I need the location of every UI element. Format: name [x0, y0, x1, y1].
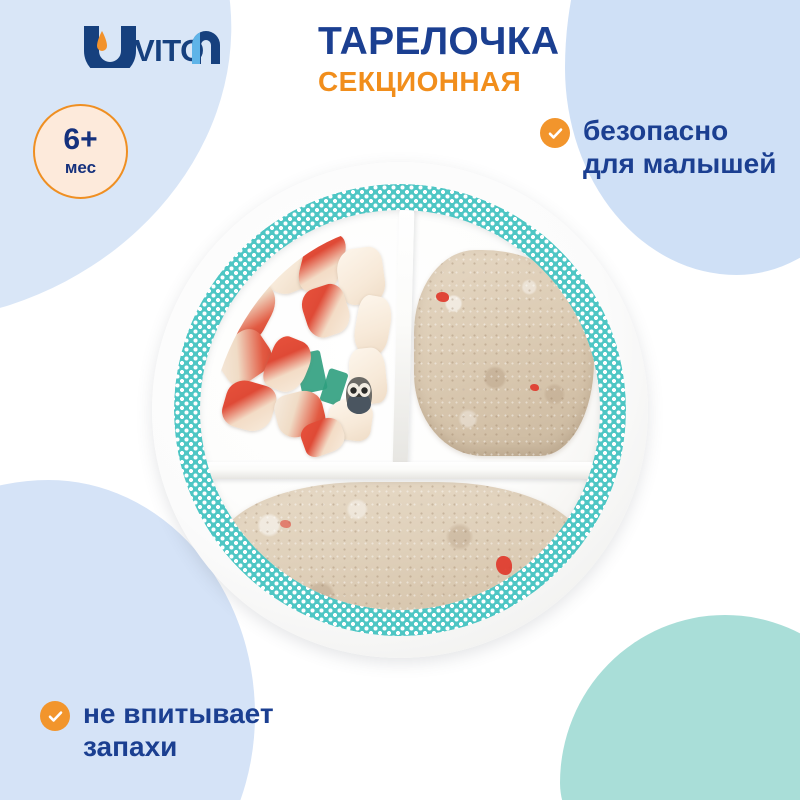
product-photo-sectioned-plate	[152, 162, 648, 658]
page-title: ТАРЕЛОЧКА	[318, 22, 559, 63]
age-badge: 6+ мес	[33, 104, 128, 199]
section-porridge-top-right	[414, 250, 594, 456]
age-badge-unit: мес	[65, 158, 96, 178]
owl-pick-icon	[344, 376, 374, 418]
feature-odor-label: не впитывает запахи	[83, 698, 274, 764]
porridge-texture	[414, 250, 594, 456]
plate-inner-bowl	[200, 210, 600, 610]
check-circle-icon	[540, 118, 570, 148]
headline-block: ТАРЕЛОЧКА СЕКЦИОННАЯ	[318, 22, 559, 97]
brand-logo: VITO	[80, 24, 220, 68]
product-marketing-banner: VITO ТАРЕЛОЧКА СЕКЦИОННАЯ 6+ мес безопас…	[0, 0, 800, 800]
check-circle-icon	[40, 701, 70, 731]
page-subtitle: СЕКЦИОННАЯ	[318, 67, 559, 98]
plate-outer-rim	[152, 162, 648, 658]
porridge-texture	[218, 482, 584, 610]
plate-divider-horizontal	[202, 462, 598, 479]
feature-no-odor: не впитывает запахи	[40, 698, 274, 764]
age-badge-value: 6+	[63, 125, 97, 155]
section-porridge-bottom	[218, 482, 584, 610]
